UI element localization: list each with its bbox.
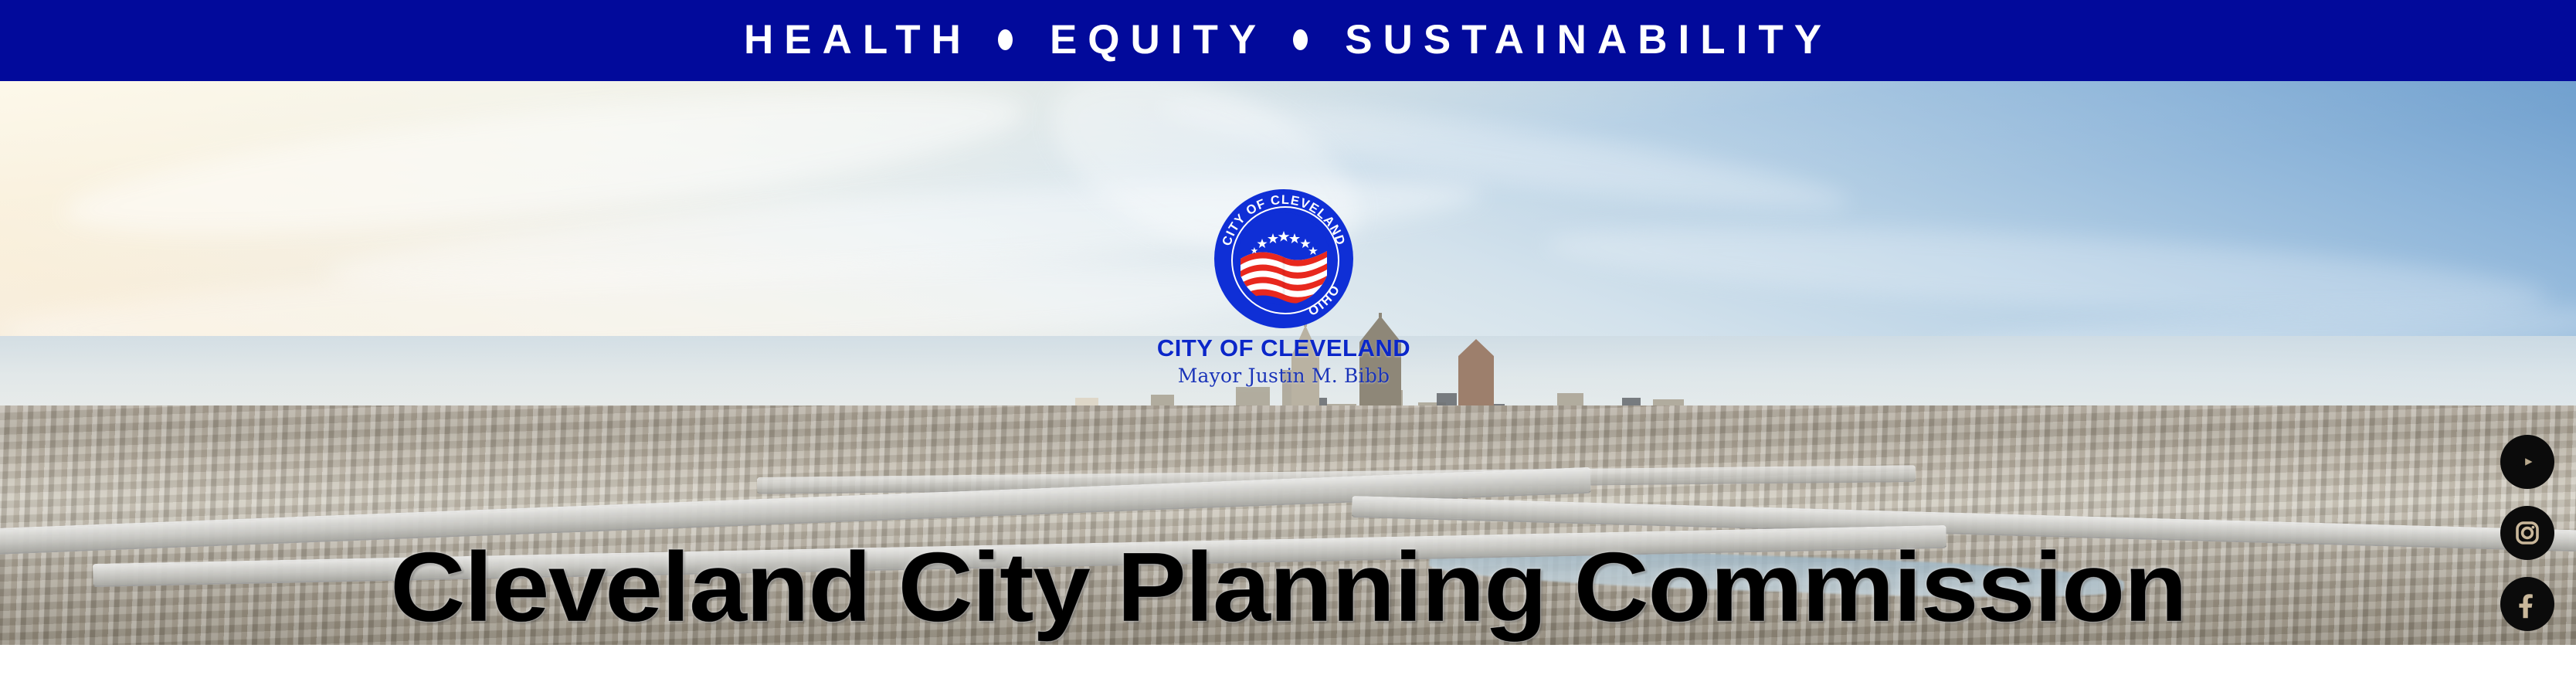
instagram-link[interactable] xyxy=(2500,506,2554,560)
hero-photo: CITY OF CLEVELAND OHIO CITY OF CLEVELAND… xyxy=(0,81,2576,645)
bullet-dot-icon xyxy=(1293,29,1308,50)
page-root: HEALTH EQUITY SUSTAINABILITY xyxy=(0,0,2576,682)
youtube-link[interactable] xyxy=(2500,435,2554,489)
svg-text:CITY OF CLEVELAND: CITY OF CLEVELAND xyxy=(1220,193,1348,248)
instagram-icon xyxy=(2512,517,2543,548)
svg-text:OHIO: OHIO xyxy=(1305,283,1342,318)
social-links xyxy=(2500,435,2554,631)
mayor-name-label: Mayor Justin M. Bibb xyxy=(1037,365,1531,387)
city-branding-block: CITY OF CLEVELAND OHIO CITY OF CLEVELAND… xyxy=(1037,189,1531,386)
bottom-white-strip xyxy=(0,645,2576,682)
seal-ring-text: CITY OF CLEVELAND OHIO xyxy=(1214,189,1353,328)
bullet-dot-icon xyxy=(998,29,1013,50)
tagline-text-group: HEALTH EQUITY SUSTAINABILITY xyxy=(744,19,1832,60)
city-of-cleveland-seal: CITY OF CLEVELAND OHIO xyxy=(1214,189,1353,328)
tagline-banner: HEALTH EQUITY SUSTAINABILITY xyxy=(0,0,2576,81)
facebook-icon xyxy=(2512,589,2543,619)
tagline-word-equity: EQUITY xyxy=(1050,19,1267,60)
tagline-word-health: HEALTH xyxy=(744,19,972,60)
page-title: Cleveland City Planning Commission xyxy=(0,538,2576,637)
tagline-word-sustainability: SUSTAINABILITY xyxy=(1345,19,1832,60)
city-name-label: CITY OF CLEVELAND xyxy=(1037,336,1531,361)
youtube-icon xyxy=(2512,446,2543,477)
facebook-link[interactable] xyxy=(2500,577,2554,631)
